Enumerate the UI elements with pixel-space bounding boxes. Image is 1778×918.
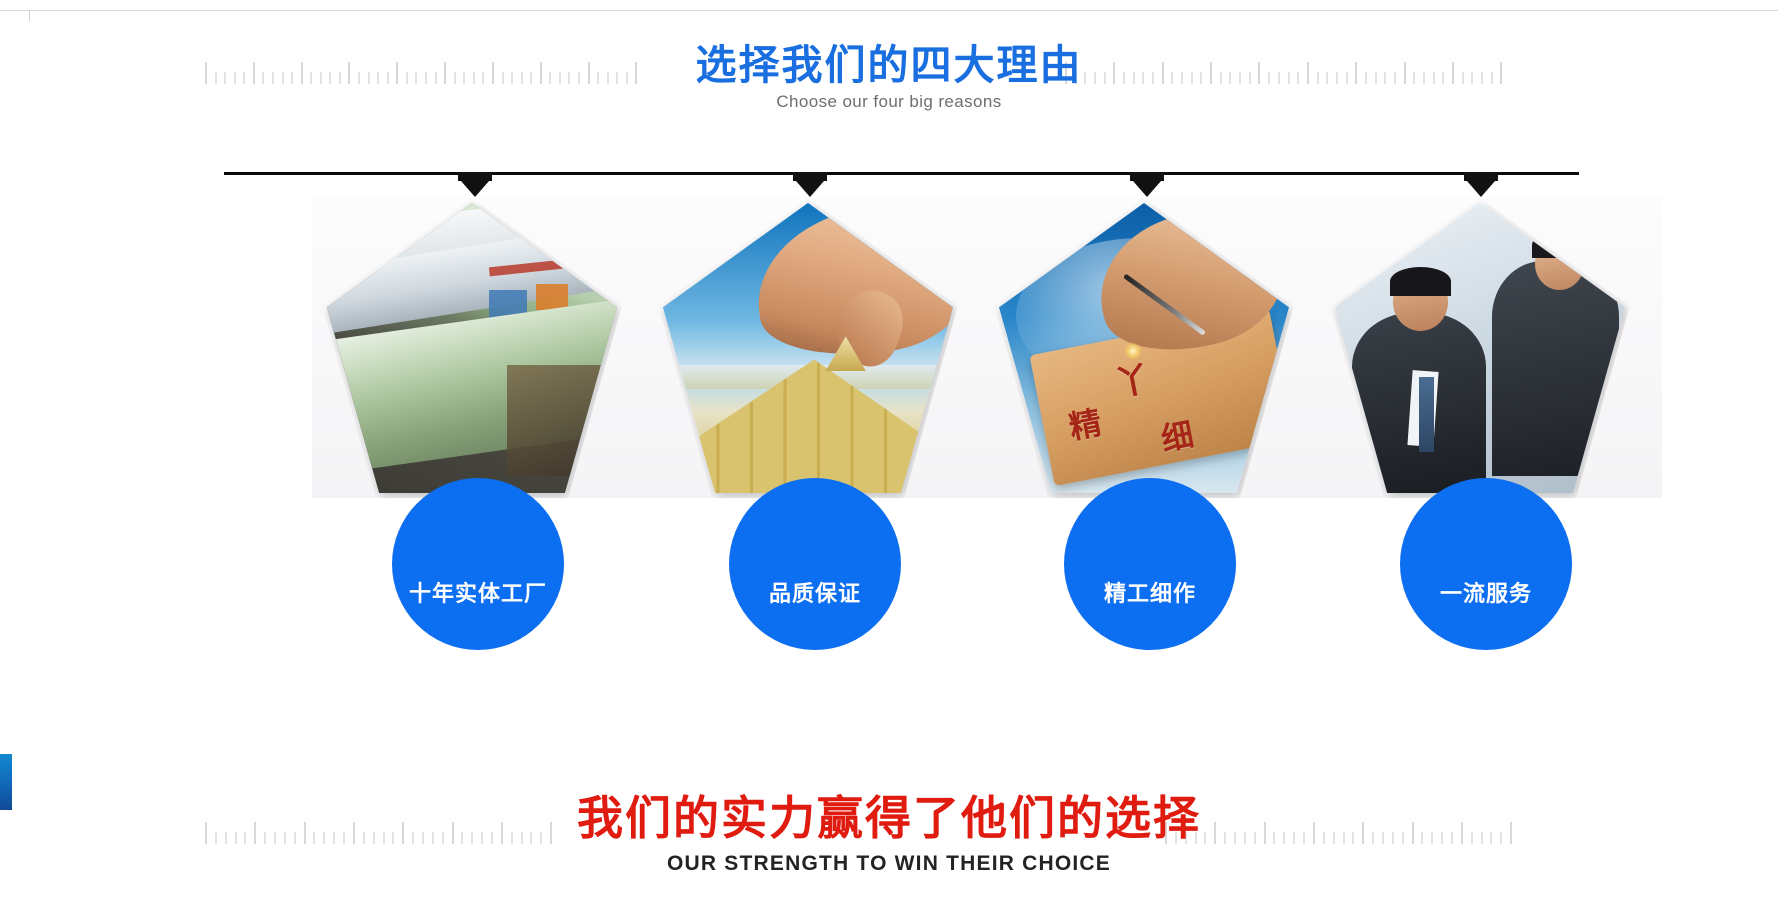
reason-badge-label: 品质保证 xyxy=(769,576,861,650)
header-zone: 选择我们的四大理由 Choose our four big reasons xyxy=(0,40,1778,126)
divider-marker-2 xyxy=(793,172,827,197)
chevron-down-icon xyxy=(1133,181,1161,197)
divider-marker-1 xyxy=(458,172,492,197)
reason-image-row: 丫精细 xyxy=(0,198,1778,498)
chevron-down-icon xyxy=(796,181,824,197)
reason-badge-row: 十年实体工厂 品质保证 精工细作 一流服务 xyxy=(0,478,1778,658)
footer-subheadline: OUR STRENGTH TO WIN THEIR CHOICE xyxy=(0,852,1778,876)
reason-badge-label: 一流服务 xyxy=(1440,576,1532,650)
reason-badge-label: 精工细作 xyxy=(1104,576,1196,650)
reason-badge-4[interactable]: 一流服务 xyxy=(1400,478,1572,650)
footer-zone: 我们的实力赢得了他们的选择 OUR STRENGTH TO WIN THEIR … xyxy=(0,790,1778,900)
page-title: 选择我们的四大理由 xyxy=(0,40,1778,90)
reason-badge-label: 十年实体工厂 xyxy=(409,576,547,650)
section-divider-line xyxy=(224,172,1579,175)
promo-page: 选择我们的四大理由 Choose our four big reasons xyxy=(0,0,1778,918)
divider-marker-4 xyxy=(1464,172,1498,197)
top-divider-rule xyxy=(0,10,1778,11)
reason-badge-2[interactable]: 品质保证 xyxy=(729,478,901,650)
page-subtitle: Choose our four big reasons xyxy=(0,92,1778,112)
divider-marker-3 xyxy=(1130,172,1164,197)
footer-headline: 我们的实力赢得了他们的选择 xyxy=(0,790,1778,846)
reason-badge-3[interactable]: 精工细作 xyxy=(1064,478,1236,650)
chevron-down-icon xyxy=(1467,181,1495,197)
top-rule-tick xyxy=(29,10,30,21)
chevron-down-icon xyxy=(461,181,489,197)
reason-badge-1[interactable]: 十年实体工厂 xyxy=(392,478,564,650)
